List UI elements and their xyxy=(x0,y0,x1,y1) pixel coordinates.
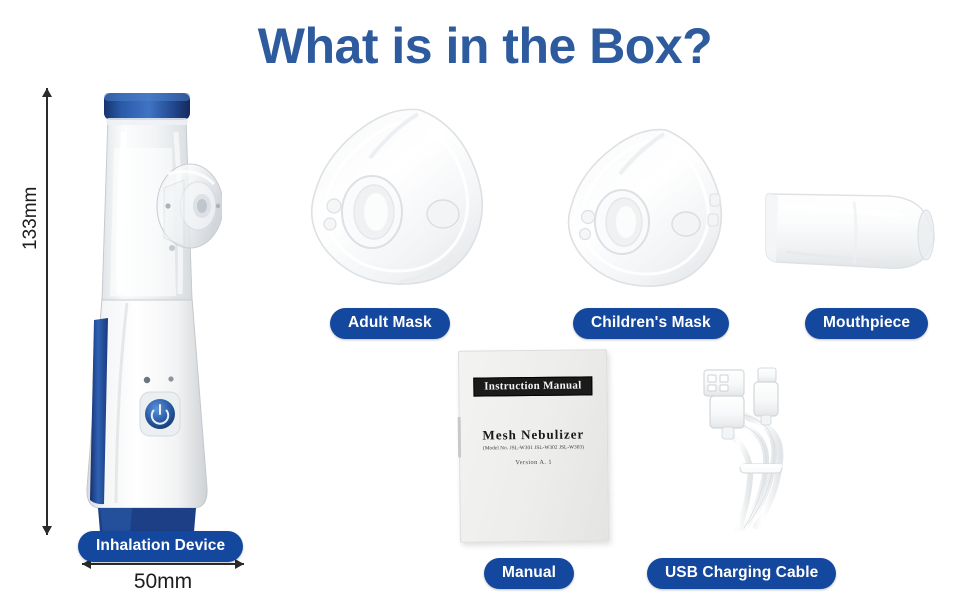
childrens-mask-image xyxy=(558,122,738,290)
page-title: What is in the Box? xyxy=(0,20,970,73)
adult-mask-image xyxy=(300,100,505,290)
label-usb-charging-cable[interactable]: USB Charging Cable xyxy=(647,558,836,589)
label-mouthpiece[interactable]: Mouthpiece xyxy=(805,308,928,339)
usb-charging-cable-image xyxy=(682,366,810,536)
height-dimension-arrow xyxy=(46,88,48,535)
manual-image: Instruction Manual Mesh Nebulizer (Model… xyxy=(458,349,609,543)
label-childrens-mask[interactable]: Children's Mask xyxy=(573,308,729,339)
manual-model-numbers: (Model No. JSL-W301 JSL-W302 JSL-W303) xyxy=(460,444,607,452)
width-dimension-label: 50mm xyxy=(82,570,244,594)
infographic-canvas: What is in the Box? 133mm 50mm xyxy=(0,0,970,600)
label-adult-mask[interactable]: Adult Mask xyxy=(330,308,450,339)
inhalation-device-image xyxy=(72,88,222,535)
mouthpiece-image xyxy=(762,178,947,283)
label-manual[interactable]: Manual xyxy=(484,558,574,589)
manual-banner: Instruction Manual xyxy=(473,376,592,396)
manual-version: Version A. 1 xyxy=(460,458,607,467)
height-dimension-label: 133mm xyxy=(20,187,42,250)
width-dimension-arrow xyxy=(82,563,244,565)
label-inhalation-device[interactable]: Inhalation Device xyxy=(78,531,243,562)
manual-product-name: Mesh Nebulizer xyxy=(460,426,607,444)
